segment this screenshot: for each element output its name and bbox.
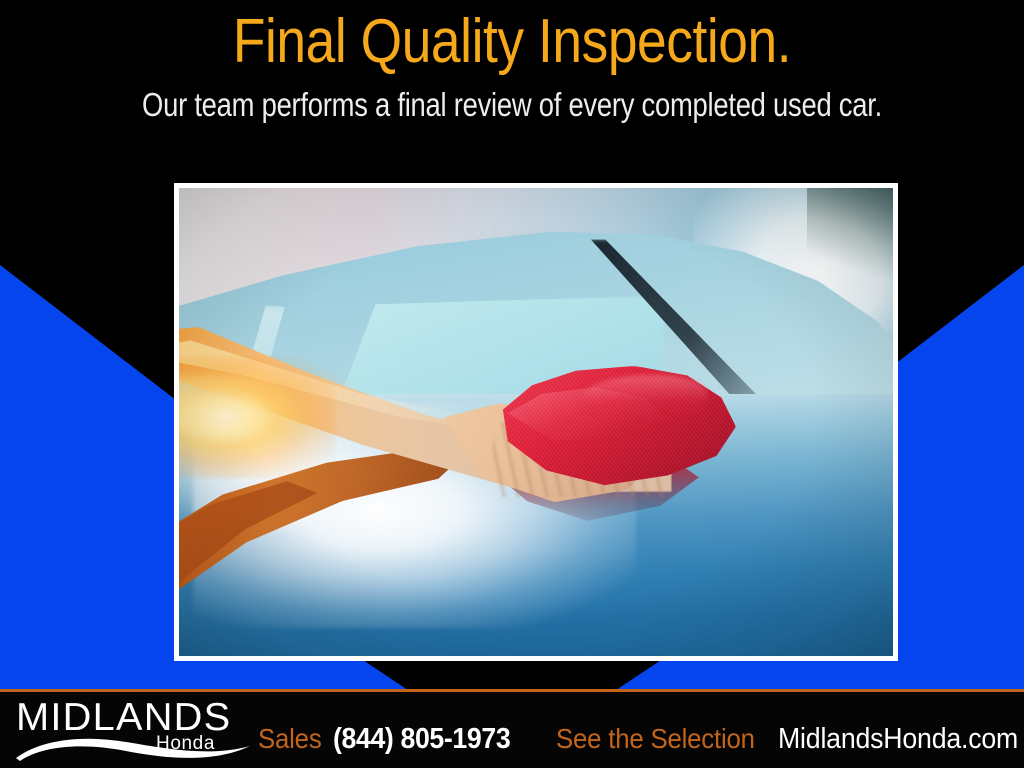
page-subtitle: Our team performs a final review of ever… — [87, 85, 937, 125]
blue-band-notch — [360, 658, 664, 690]
dealer-website-url[interactable]: MidlandsHonda.com — [778, 722, 1018, 756]
see-the-selection-label: See the Selection — [556, 722, 755, 756]
photo-sun-flare-streak — [179, 375, 436, 431]
blue-angle-left — [0, 255, 200, 690]
sales-phone-number[interactable]: (844) 805-1973 — [333, 722, 510, 756]
sales-label: Sales — [258, 722, 322, 756]
photo-background-foliage — [807, 188, 893, 291]
photo-frame — [174, 183, 898, 661]
marketing-poster: Final Quality Inspection. Our team perfo… — [0, 0, 1024, 768]
header-block: Final Quality Inspection. Our team perfo… — [0, 0, 1024, 170]
dealer-logo[interactable]: MIDLANDS Honda — [14, 697, 254, 763]
hero-photo — [179, 188, 893, 656]
page-title: Final Quality Inspection. — [72, 6, 953, 78]
sales-contact[interactable]: Sales(844) 805-1973 — [258, 722, 526, 758]
selection-link[interactable]: See the SelectionMidlandsHonda.com — [556, 722, 1024, 758]
swoosh-icon — [14, 733, 252, 763]
